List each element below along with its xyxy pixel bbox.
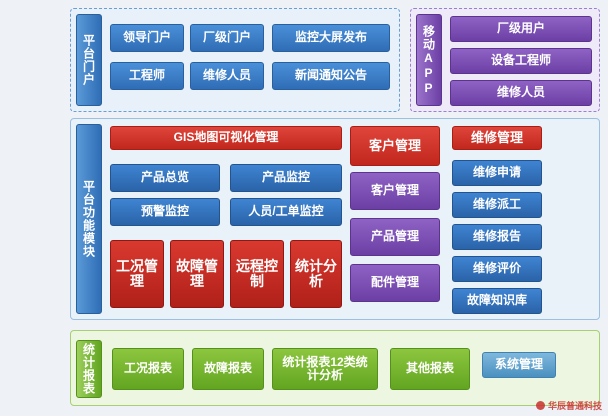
report-item-other[interactable]: 其他报表 bbox=[390, 348, 470, 390]
repair-item-knowledge-base[interactable]: 故障知识库 bbox=[452, 288, 542, 314]
portal-item-bigscreen[interactable]: 监控大屏发布 bbox=[272, 24, 390, 52]
gis-bottom-fault-management[interactable]: 故障管理 bbox=[170, 240, 224, 308]
report-item-system-management[interactable]: 系统管理 bbox=[482, 352, 556, 378]
repair-item-dispatch[interactable]: 维修派工 bbox=[452, 192, 542, 218]
portal-item-repairman[interactable]: 维修人员 bbox=[190, 62, 264, 90]
gis-item-alarm-monitor[interactable]: 预警监控 bbox=[110, 198, 220, 226]
repair-item-report[interactable]: 维修报告 bbox=[452, 224, 542, 250]
mobile-item-repairman[interactable]: 维修人员 bbox=[450, 80, 592, 106]
report-item-statistic-12[interactable]: 统计报表12类统计分析 bbox=[272, 348, 378, 390]
mobile-item-equipment-engineer[interactable]: 设备工程师 bbox=[450, 48, 592, 74]
repair-item-evaluation[interactable]: 维修评价 bbox=[452, 256, 542, 282]
gis-item-staff-workorder-monitor[interactable]: 人员/工单监控 bbox=[230, 198, 342, 226]
watermark-text: 华辰普通科技 bbox=[548, 399, 602, 412]
mobile-item-factory-user[interactable]: 厂级用户 bbox=[450, 16, 592, 42]
function-modules-label: 平台功能模块 bbox=[76, 124, 102, 314]
reports-label: 统计报表 bbox=[76, 340, 102, 398]
architecture-diagram: 平台门户 领导门户 厂级门户 监控大屏发布 工程师 维修人员 新闻通知公告 移动… bbox=[0, 0, 608, 416]
customer-management-header: 客户管理 bbox=[350, 126, 440, 166]
portal-item-news[interactable]: 新闻通知公告 bbox=[272, 62, 390, 90]
gis-bottom-condition-management[interactable]: 工况管理 bbox=[110, 240, 164, 308]
gis-item-product-overview[interactable]: 产品总览 bbox=[110, 164, 220, 192]
repair-management-header: 维修管理 bbox=[452, 126, 542, 150]
customer-item-customer-management[interactable]: 客户管理 bbox=[350, 172, 440, 210]
report-item-fault[interactable]: 故障报表 bbox=[192, 348, 264, 390]
portal-item-leader[interactable]: 领导门户 bbox=[110, 24, 184, 52]
gis-bottom-statistic-analysis[interactable]: 统计分析 bbox=[290, 240, 342, 308]
portal-item-factory[interactable]: 厂级门户 bbox=[190, 24, 264, 52]
gis-item-product-monitor[interactable]: 产品监控 bbox=[230, 164, 342, 192]
portal-item-engineer[interactable]: 工程师 bbox=[110, 62, 184, 90]
repair-item-apply[interactable]: 维修申请 bbox=[452, 160, 542, 186]
customer-item-product-management[interactable]: 产品管理 bbox=[350, 218, 440, 256]
report-item-condition[interactable]: 工况报表 bbox=[112, 348, 184, 390]
customer-item-parts-management[interactable]: 配件管理 bbox=[350, 264, 440, 302]
gis-bottom-remote-control[interactable]: 远程控制 bbox=[230, 240, 284, 308]
platform-portal-label: 平台门户 bbox=[76, 14, 102, 106]
watermark-logo-icon bbox=[536, 401, 545, 410]
gis-header: GIS地图可视化管理 bbox=[110, 126, 342, 150]
mobile-app-label: 移动APP bbox=[416, 14, 442, 106]
watermark: 华辰普通科技 bbox=[536, 399, 602, 412]
